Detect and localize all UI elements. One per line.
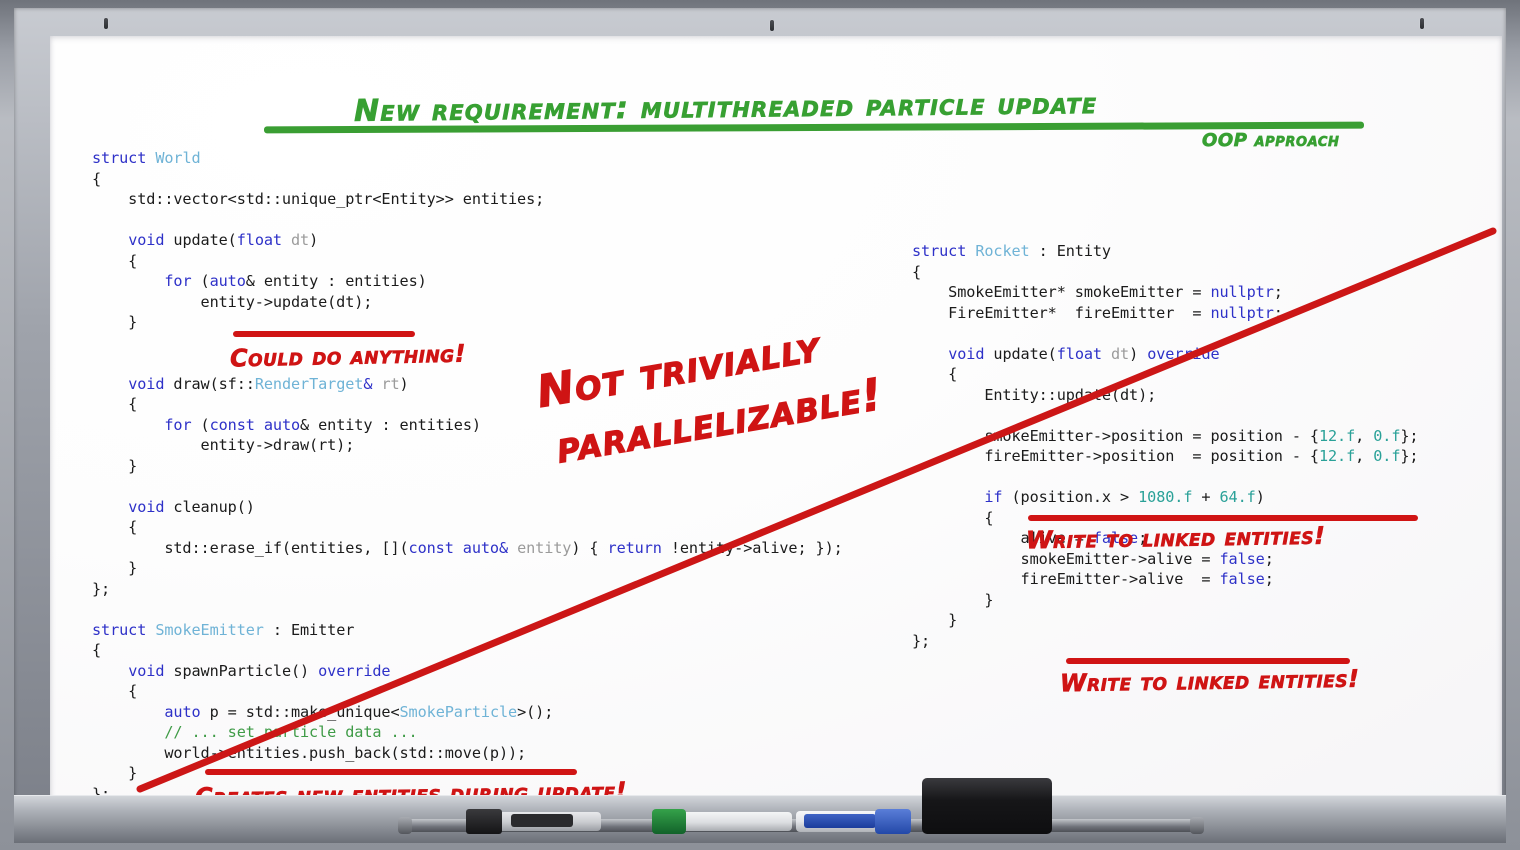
frame-screw: [104, 18, 108, 29]
code-line: {: [92, 170, 101, 188]
code-token: {: [912, 365, 957, 383]
code-token: [92, 703, 164, 721]
code-token: false: [1219, 550, 1264, 568]
code-token: // ... set particle data ...: [164, 723, 417, 741]
code-token: float: [1057, 345, 1102, 363]
code-line: }: [92, 457, 137, 475]
code-token: world->entities.push_back(std::move(p));: [92, 744, 526, 762]
code-token: }: [92, 559, 137, 577]
code-token: {: [92, 252, 137, 270]
subtitle: OOP approach: [1202, 130, 1340, 151]
code-token: 0.f: [1373, 447, 1400, 465]
code-token: }: [912, 611, 957, 629]
blue-marker-band: [804, 814, 876, 828]
code-token: (position.x >: [1002, 488, 1138, 506]
code-token: [92, 662, 128, 680]
code-token: SmokeEmitter: [155, 621, 264, 639]
code-token: nullptr: [1210, 283, 1273, 301]
code-token: 12.f: [1319, 447, 1355, 465]
frame-screw: [1420, 18, 1424, 29]
code-token: SmokeEmitter* smokeEmitter =: [912, 283, 1210, 301]
code-line: entity->draw(rt);: [92, 436, 354, 454]
code-line: std::vector<std::unique_ptr<Entity>> ent…: [92, 190, 544, 208]
code-token: ;: [1265, 570, 1274, 588]
code-line: }: [92, 313, 137, 331]
code-token: [912, 488, 984, 506]
code-token: std::erase_if(entities, [](: [92, 539, 409, 557]
code-token: !entity->alive; });: [662, 539, 843, 557]
code-token: & entity : entities): [300, 416, 481, 434]
code-token: spawnParticle(): [164, 662, 318, 680]
code-token: fireEmitter->alive =: [912, 570, 1219, 588]
code-line: Entity::update(dt);: [912, 386, 1156, 404]
code-token: float: [237, 231, 282, 249]
code-line: std::erase_if(entities, [](const auto& e…: [92, 539, 843, 557]
code-line: };: [912, 632, 930, 650]
code-token: FireEmitter* fireEmitter =: [912, 304, 1210, 322]
code-token: & entity : entities): [246, 272, 427, 290]
code-token: dt: [291, 231, 309, 249]
code-line: fireEmitter->alive = false;: [912, 570, 1274, 588]
code-token: }: [912, 591, 993, 609]
code-token: [1102, 345, 1111, 363]
frame-screw: [770, 20, 774, 31]
green-marker-cap: [652, 809, 686, 834]
code-token: override: [1147, 345, 1219, 363]
code-token: +: [1192, 488, 1219, 506]
code-token: return: [608, 539, 662, 557]
code-token: draw(sf::: [164, 375, 254, 393]
code-token: dt: [1111, 345, 1129, 363]
annotation-write-to-linked-entities-1: Write to linked entities!: [1026, 522, 1326, 555]
code-token: [508, 539, 517, 557]
code-token: Entity::update(dt);: [912, 386, 1156, 404]
code-line: void cleanup(): [92, 498, 255, 516]
code-line: }: [912, 611, 957, 629]
code-token: auto: [264, 416, 300, 434]
code-token: for: [164, 416, 191, 434]
code-token: 1080.f: [1138, 488, 1192, 506]
code-token: 0.f: [1373, 427, 1400, 445]
code-token: 64.f: [1220, 488, 1256, 506]
code-token: ,: [1355, 427, 1373, 445]
code-token: ): [400, 375, 409, 393]
code-token: cleanup(): [164, 498, 254, 516]
code-token: [92, 416, 164, 434]
code-token: {: [92, 395, 137, 413]
code-line: }: [912, 591, 993, 609]
code-line: {: [92, 518, 137, 536]
code-line: for (const auto& entity : entities): [92, 416, 481, 434]
code-token: entity: [517, 539, 571, 557]
code-token: RenderTarget: [255, 375, 364, 393]
code-token: : Emitter: [264, 621, 354, 639]
code-token: p = std::make_unique<: [201, 703, 400, 721]
code-line: void update(float dt): [92, 231, 318, 249]
blue-marker-cap: [875, 809, 911, 834]
code-token: void: [948, 345, 984, 363]
whiteboard: New requirement: multithreaded particle …: [0, 0, 1520, 850]
whiteboard-eraser[interactable]: [922, 778, 1052, 834]
code-token: };: [92, 580, 110, 598]
code-token: };: [1400, 447, 1418, 465]
code-token: ,: [1355, 447, 1373, 465]
code-token: };: [1400, 427, 1418, 445]
code-line: };: [92, 580, 110, 598]
code-line: struct SmokeEmitter : Emitter: [92, 621, 354, 639]
code-token: {: [92, 170, 101, 188]
code-token: ;: [1274, 283, 1283, 301]
code-token: void: [128, 375, 164, 393]
black-marker-band: [511, 814, 573, 827]
code-line: struct Rocket : Entity: [912, 242, 1111, 260]
code-token: 12.f: [1319, 427, 1355, 445]
code-token: }: [92, 764, 137, 782]
code-token: void: [128, 498, 164, 516]
whiteboard-surface: New requirement: multithreaded particle …: [50, 36, 1502, 802]
code-line: SmokeEmitter* smokeEmitter = nullptr;: [912, 283, 1283, 301]
code-line: if (position.x > 1080.f + 64.f): [912, 488, 1265, 506]
code-token: Rocket: [975, 242, 1029, 260]
code-line: {: [912, 365, 957, 383]
code-token: void: [128, 662, 164, 680]
code-token: if: [984, 488, 1002, 506]
code-token: fireEmitter->position = position - {: [912, 447, 1319, 465]
code-line: {: [92, 252, 137, 270]
code-token: }: [92, 313, 137, 331]
code-token: smokeEmitter->position = position - {: [912, 427, 1319, 445]
code-line: {: [912, 263, 921, 281]
code-token: {: [912, 263, 921, 281]
code-token: auto: [164, 703, 200, 721]
code-line: auto p = std::make_unique<SmokeParticle>…: [92, 703, 553, 721]
code-token: ): [1256, 488, 1265, 506]
code-line: struct World: [92, 149, 201, 167]
code-line: world->entities.push_back(std::move(p));: [92, 744, 526, 762]
code-line: void draw(sf::RenderTarget& rt): [92, 375, 409, 393]
code-token: [282, 231, 291, 249]
code-token: (: [192, 272, 210, 290]
code-token: for: [164, 272, 191, 290]
code-token: [912, 345, 948, 363]
code-line: // ... set particle data ...: [92, 723, 418, 741]
code-token: struct: [92, 621, 155, 639]
code-token: [92, 723, 164, 741]
code-token: [454, 539, 463, 557]
annotation-could-do-anything: Could do anything!: [230, 340, 467, 373]
code-token: ): [309, 231, 318, 249]
code-line: {: [92, 395, 137, 413]
code-token: rt: [381, 375, 399, 393]
code-line: {: [92, 641, 101, 659]
code-token: {: [92, 518, 137, 536]
code-token: {: [912, 509, 993, 527]
code-token: struct: [912, 242, 975, 260]
code-token: };: [912, 632, 930, 650]
code-token: ) {: [571, 539, 607, 557]
annotation-write-to-linked-entities-2: Write to linked entities!: [1060, 665, 1360, 698]
code-token: const: [409, 539, 454, 557]
code-line: void spawnParticle() override: [92, 662, 390, 680]
code-line: void update(float dt) override: [912, 345, 1220, 363]
code-token: World: [155, 149, 200, 167]
code-token: [255, 416, 264, 434]
code-token: [92, 231, 128, 249]
code-line: }: [92, 559, 137, 577]
code-block-world: struct World { std::vector<std::unique_p…: [92, 148, 843, 802]
underline-emitter-position: [1028, 515, 1418, 521]
code-token: [92, 498, 128, 516]
code-line: entity->update(dt);: [92, 293, 372, 311]
code-token: [92, 272, 164, 290]
underline-push-back: [205, 769, 577, 775]
underline-emitter-alive: [1066, 658, 1350, 664]
code-line: }: [92, 764, 137, 782]
code-token: std::vector<std::unique_ptr<Entity>> ent…: [92, 190, 544, 208]
code-token: ;: [1274, 304, 1283, 322]
code-token: const: [210, 416, 255, 434]
black-marker-cap: [466, 809, 502, 834]
code-token: {: [92, 682, 137, 700]
code-token: update(: [984, 345, 1056, 363]
code-line: smokeEmitter->position = position - {12.…: [912, 427, 1418, 445]
code-token: override: [318, 662, 390, 680]
code-line: FireEmitter* fireEmitter = nullptr;: [912, 304, 1283, 322]
code-token: : Entity: [1030, 242, 1111, 260]
code-token: entity->draw(rt);: [92, 436, 354, 454]
code-line: for (auto& entity : entities): [92, 272, 427, 290]
whiteboard-frame: New requirement: multithreaded particle …: [14, 8, 1506, 808]
code-token: {: [92, 641, 101, 659]
code-line: fireEmitter->position = position - {12.f…: [912, 447, 1418, 465]
code-token: auto: [210, 272, 246, 290]
code-token: entity->update(dt);: [92, 293, 372, 311]
tray-rail-cap-left: [398, 817, 412, 834]
code-token: ): [1129, 345, 1147, 363]
code-token: >();: [517, 703, 553, 721]
code-token: update(: [164, 231, 236, 249]
tray-rail-cap-right: [1190, 817, 1204, 834]
code-line: {: [912, 509, 993, 527]
code-line: {: [92, 682, 137, 700]
code-token: ;: [1265, 550, 1274, 568]
underline-entity-update: [233, 331, 415, 337]
code-token: SmokeParticle: [400, 703, 518, 721]
code-token: nullptr: [1210, 304, 1273, 322]
code-token: struct: [92, 149, 155, 167]
code-token: false: [1219, 570, 1264, 588]
code-token: }: [92, 457, 137, 475]
code-token: void: [128, 231, 164, 249]
code-block-rocket: struct Rocket : Entity { SmokeEmitter* s…: [912, 241, 1418, 651]
code-token: auto: [463, 539, 499, 557]
code-token: (: [192, 416, 210, 434]
code-token: [92, 375, 128, 393]
marker-tray: [14, 795, 1506, 843]
code-token: &: [499, 539, 508, 557]
